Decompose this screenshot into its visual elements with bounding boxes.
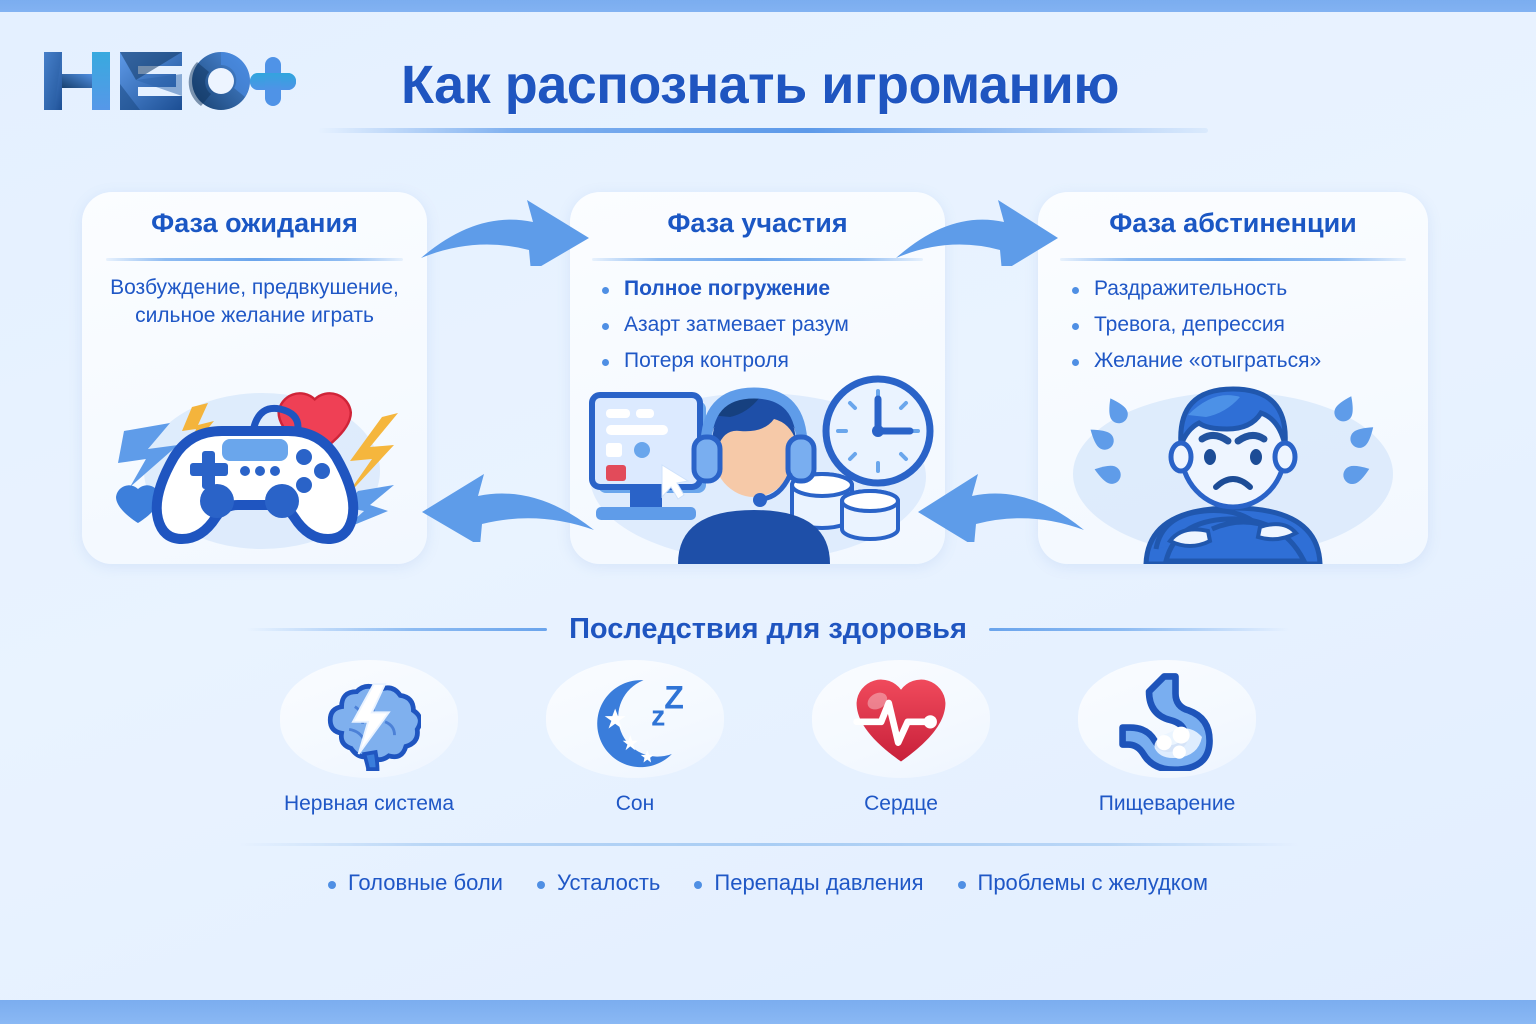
arrow-left-withdrawal-to-participation bbox=[905, 470, 1090, 542]
section-title: Последствия для здоровья bbox=[569, 613, 967, 646]
gamepad-heart-illustration bbox=[82, 379, 427, 564]
brand-logo bbox=[36, 40, 296, 115]
health-item-heart[interactable]: Сердце bbox=[768, 660, 1034, 840]
top-accent-bar bbox=[0, 0, 1536, 12]
phase-card-divider bbox=[106, 258, 403, 261]
icon-blob bbox=[1078, 660, 1256, 778]
infographic-page: Как распознать игроманию Фаза ожидания В… bbox=[0, 0, 1536, 1024]
health-item-label: Сердце bbox=[864, 792, 938, 816]
list-item: Полное погружение bbox=[600, 276, 929, 303]
phase-card-title: Фаза ожидания bbox=[82, 208, 427, 239]
health-item-label: Пищеварение bbox=[1099, 792, 1236, 816]
phase-card-bullet-list: Раздражительность Тревога, депрессия Жел… bbox=[1070, 276, 1412, 384]
health-item-nervous-system[interactable]: Нервная система bbox=[236, 660, 502, 840]
bottom-accent-bar bbox=[0, 1000, 1536, 1024]
list-item: Раздражительность bbox=[1070, 276, 1412, 303]
arrow-right-participation-to-withdrawal bbox=[890, 196, 1065, 266]
stomach-icon bbox=[1115, 667, 1219, 771]
icon-blob bbox=[280, 660, 458, 778]
health-item-label: Сон bbox=[616, 792, 654, 816]
phase-card-participation[interactable]: Фаза участия Полное погружение Азарт зат… bbox=[570, 192, 945, 564]
list-item: Азарт затмевает разум bbox=[600, 312, 929, 339]
symptom-item: Усталость bbox=[537, 870, 660, 896]
gamer-monitor-clock-coins-illustration bbox=[570, 369, 945, 564]
health-item-sleep[interactable]: z Z Сон bbox=[502, 660, 768, 840]
consequences-section-header: Последствия для здоровья bbox=[0, 608, 1536, 650]
arrow-left-participation-to-anticipation bbox=[410, 470, 600, 542]
symptoms-row: Головные боли Усталость Перепады давлени… bbox=[0, 862, 1536, 904]
arrow-right-anticipation-to-participation bbox=[415, 196, 595, 266]
symptom-item: Головные боли bbox=[328, 870, 503, 896]
heart-pulse-icon bbox=[849, 667, 953, 771]
brain-lightning-icon bbox=[317, 667, 421, 771]
phase-card-title: Фаза абстиненции bbox=[1038, 208, 1428, 239]
section-rule-right bbox=[989, 628, 1289, 631]
section-rule-left bbox=[247, 628, 547, 631]
page-title: Как распознать игроманию bbox=[330, 46, 1190, 124]
phase-card-bullet-list: Полное погружение Азарт затмевает разум … bbox=[600, 276, 929, 384]
symptoms-divider bbox=[238, 843, 1298, 846]
icon-blob: z Z bbox=[546, 660, 724, 778]
health-consequences-row: Нервная система z Z Сон bbox=[236, 660, 1300, 840]
health-item-label: Нервная система bbox=[284, 792, 454, 816]
phase-card-title: Фаза участия bbox=[570, 208, 945, 239]
health-item-digestion[interactable]: Пищеварение bbox=[1034, 660, 1300, 840]
svg-text:Z: Z bbox=[664, 680, 684, 716]
phase-card-divider bbox=[592, 258, 923, 261]
moon-zzz-icon: z Z bbox=[583, 667, 687, 771]
symptom-item: Проблемы с желудком bbox=[958, 870, 1209, 896]
phase-card-withdrawal[interactable]: Фаза абстиненции Раздражительность Трево… bbox=[1038, 192, 1428, 564]
icon-blob bbox=[812, 660, 990, 778]
phase-card-divider bbox=[1060, 258, 1406, 261]
phase-card-anticipation[interactable]: Фаза ожидания Возбуждение, предвкушение,… bbox=[82, 192, 427, 564]
phase-card-description: Возбуждение, предвкушение, сильное желан… bbox=[96, 274, 413, 329]
sad-person-illustration bbox=[1038, 369, 1428, 564]
svg-text:z: z bbox=[651, 701, 665, 733]
symptom-item: Перепады давления bbox=[694, 870, 923, 896]
title-underline bbox=[318, 128, 1208, 133]
list-item: Тревога, депрессия bbox=[1070, 312, 1412, 339]
